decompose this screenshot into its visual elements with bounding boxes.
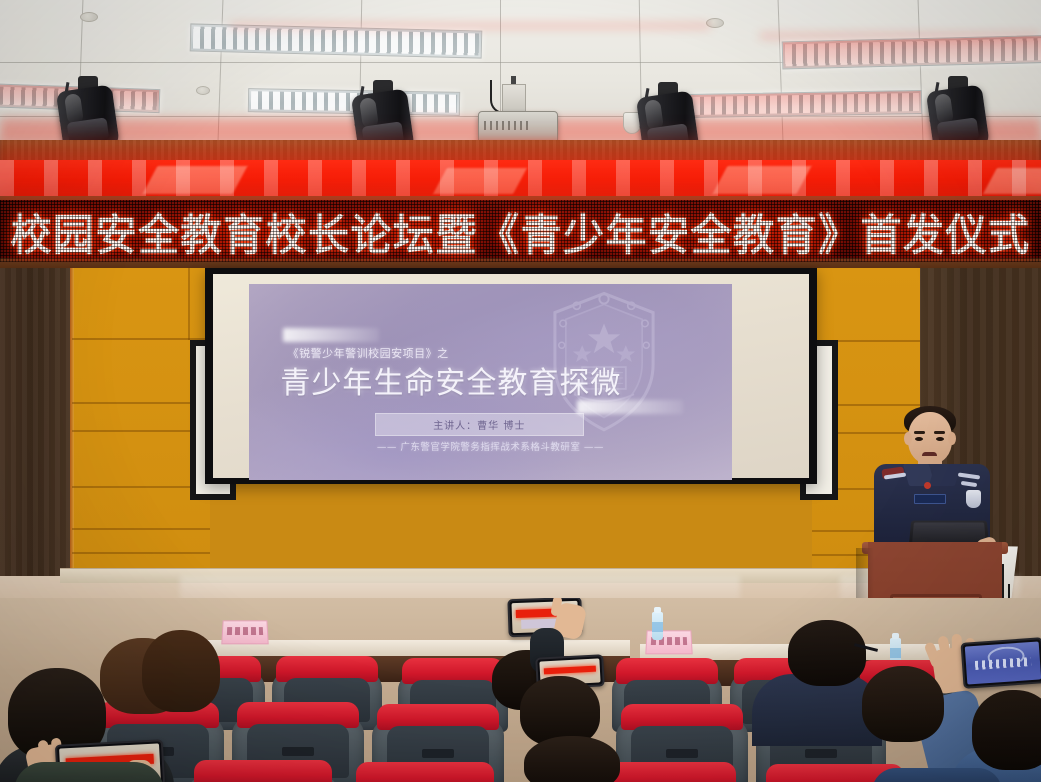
audience-person-shoulders (872, 768, 1002, 782)
audience-person-head (142, 630, 220, 712)
speaker-ear (948, 432, 956, 445)
auditorium-seat[interactable] (188, 760, 338, 782)
audience-person-head (520, 676, 600, 746)
speaker-shoulder-patch-icon (966, 490, 981, 508)
led-scrolling-banner: 校园安全教育校长论坛暨《青少年安全教育》首发仪式 (0, 200, 1041, 262)
ceiling-vent-icon (196, 86, 210, 95)
stage-curtain-left (0, 268, 70, 576)
audience-phone-camera[interactable] (960, 637, 1041, 689)
audience-area (0, 598, 1041, 782)
auditorium-seat[interactable] (350, 762, 500, 782)
led-banner-text: 校园安全教育校长论坛暨《青少年安全教育》首发仪式 (11, 200, 1031, 262)
auditorium-photo: 校园安全教育校长论坛暨《青少年安全教育》首发仪式 (0, 0, 1041, 782)
presentation-slide: 《锐警少年警训校园安项目》之 青少年生命安全教育探微 主讲人：曹华 博士 —— … (249, 284, 732, 480)
slide-organization: —— 广东警官学院警务指挥战术系格斗教研室 —— (377, 439, 604, 453)
speaker-lapel-pin (924, 482, 931, 489)
projection-screen: 《锐警少年警训校园安项目》之 青少年生命安全教育探微 主讲人：曹华 博士 —— … (205, 268, 817, 484)
audience-person-head (524, 736, 620, 782)
audience-person-head (862, 666, 944, 742)
ceiling-vent-icon (80, 12, 98, 22)
slide-speaker-name: 主讲人：曹华 博士 (433, 417, 525, 432)
speaker-ear (904, 432, 912, 445)
audience-person-head (972, 690, 1041, 770)
screen-surface: 《锐警少年警训校园安项目》之 青少年生命安全教育探微 主讲人：曹华 博士 —— … (213, 274, 809, 478)
slide-title: 青少年生命安全教育探微 (280, 358, 621, 402)
speaker-nameplate (914, 494, 946, 504)
table-name-card (221, 620, 268, 644)
ceiling-light-panel (690, 90, 922, 118)
slide-speaker-box: 主讲人：曹华 博士 (375, 413, 585, 436)
audience-person-head (788, 620, 866, 686)
water-bottle (652, 612, 663, 640)
audience-person-shoulders (14, 762, 164, 782)
